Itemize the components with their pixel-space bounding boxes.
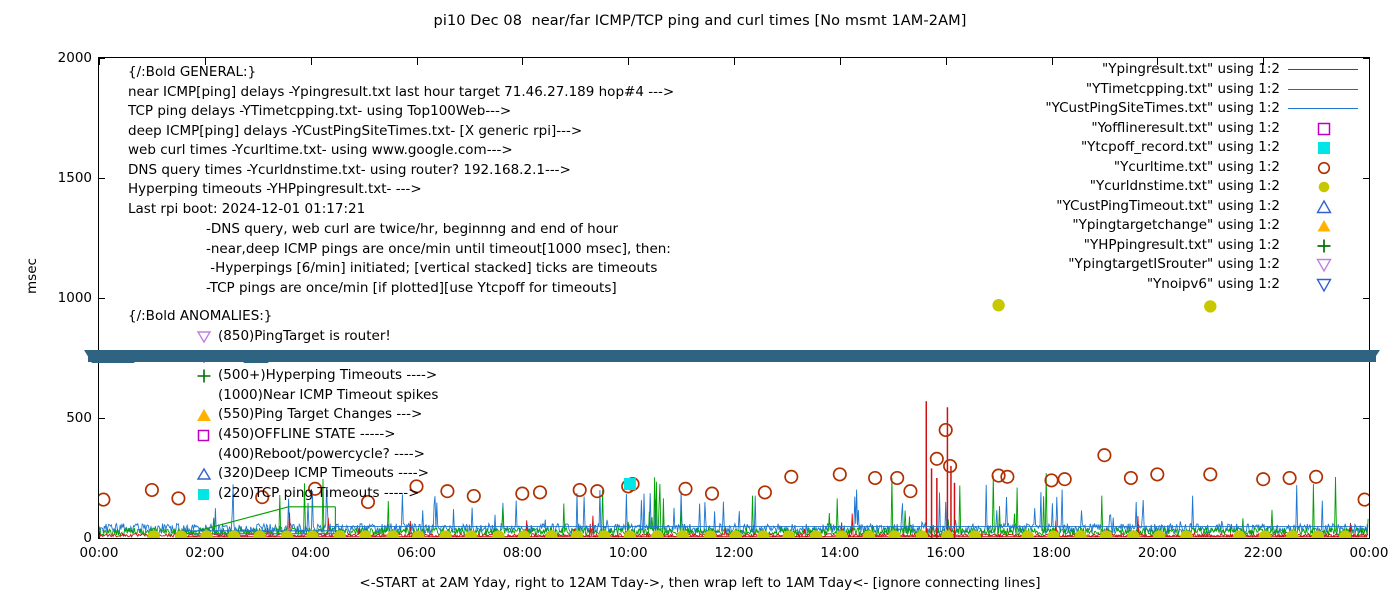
anomaly-row: (320)Deep ICMP Timeouts ----> bbox=[218, 464, 429, 484]
legend-line-swatch bbox=[1288, 89, 1358, 90]
legend-point-swatch bbox=[1316, 218, 1332, 234]
legend-label: "Ycurltime.txt" using 1:2 bbox=[1114, 158, 1280, 178]
curl-time-point bbox=[944, 460, 956, 472]
curl-time-point bbox=[1283, 472, 1295, 484]
curl-time-point bbox=[706, 487, 718, 499]
anomaly-marker-sq-fill-cyan-icon bbox=[196, 486, 212, 502]
y-axis-label: msec bbox=[24, 241, 40, 311]
anomaly-row: (850)PingTarget is router! bbox=[218, 327, 391, 347]
curl-time-point bbox=[591, 485, 603, 497]
chart-title: pi10 Dec 08 near/far ICMP/TCP ping and c… bbox=[0, 13, 1400, 29]
legend-point-swatch bbox=[1316, 238, 1332, 254]
x-tick-label: 04:00 bbox=[291, 545, 330, 561]
legend-row: "Ytcpoff_record.txt" using 1:2 bbox=[980, 138, 1362, 158]
curl-time-point bbox=[1310, 471, 1322, 483]
legend-label: "Yofflineresult.txt" using 1:2 bbox=[1091, 119, 1280, 139]
legend-key-circ-fill-icon bbox=[1284, 177, 1362, 197]
legend-label: "Ypingtargetchange" using 1:2 bbox=[1072, 216, 1280, 236]
legend-label: "Ynoipv6" using 1:2 bbox=[1147, 275, 1280, 295]
curl-time-point bbox=[516, 487, 528, 499]
curl-time-point bbox=[1098, 449, 1110, 461]
legend-point-swatch bbox=[1316, 140, 1332, 156]
x-tick-label: 14:00 bbox=[820, 545, 859, 561]
legend-point-swatch bbox=[1316, 121, 1332, 137]
anomaly-marker-tri-up-fill-orange-icon bbox=[196, 407, 212, 423]
curl-time-point bbox=[931, 453, 943, 465]
y-tick-label: 0 bbox=[83, 530, 92, 546]
overlay-band-notch-tab[interactable] bbox=[236, 348, 286, 366]
legend-line-swatch bbox=[1288, 108, 1358, 109]
legend-row: "Ypingresult.txt" using 1:2 bbox=[980, 60, 1362, 80]
legend-row: "YpingtargetISrouter" using 1:2 bbox=[980, 255, 1362, 275]
legend-label: "Ypingresult.txt" using 1:2 bbox=[1102, 60, 1280, 80]
overlay-band-right-tab[interactable] bbox=[1366, 348, 1388, 366]
curl-time-point bbox=[146, 484, 158, 496]
x-tick-mark bbox=[1369, 57, 1370, 65]
legend-row: "YCustPingSiteTimes.txt" using 1:2 bbox=[980, 99, 1362, 119]
curl-time-point bbox=[99, 493, 110, 505]
legend-point-swatch bbox=[1316, 257, 1332, 273]
y-tick-label: 500 bbox=[66, 410, 92, 426]
curl-time-point bbox=[1151, 468, 1163, 480]
curl-time-point bbox=[891, 472, 903, 484]
x-tick-label: 20:00 bbox=[1138, 545, 1177, 561]
curl-time-point bbox=[834, 468, 846, 480]
x-tick-label: 18:00 bbox=[1032, 545, 1071, 561]
curl-time-point bbox=[1059, 473, 1071, 485]
curl-time-point bbox=[1257, 473, 1269, 485]
x-tick-label: 06:00 bbox=[397, 545, 436, 561]
dns-time-point bbox=[412, 530, 424, 538]
legend-key-line-icon bbox=[1284, 80, 1362, 100]
curl-time-point bbox=[468, 490, 480, 502]
dns-time-point bbox=[992, 299, 1004, 311]
x-axis-caption: <-START at 2AM Yday, right to 12AM Tday-… bbox=[0, 575, 1400, 591]
legend-label: "YpingtargetISrouter" using 1:2 bbox=[1068, 255, 1280, 275]
legend-label: "YHPpingresult.txt" using 1:2 bbox=[1084, 236, 1280, 256]
curl-time-point bbox=[759, 486, 771, 498]
curl-time-point bbox=[1204, 468, 1216, 480]
overlay-band-left-tab[interactable] bbox=[84, 348, 174, 366]
legend-label: "YCustPingTimeout.txt" using 1:2 bbox=[1056, 197, 1280, 217]
x-tick-label: 00:00 bbox=[80, 545, 119, 561]
curl-time-point bbox=[1125, 472, 1137, 484]
general-indented-notes: -DNS query, web curl are twice/hr, begin… bbox=[206, 220, 671, 298]
tcp-timeout-point bbox=[624, 478, 636, 490]
legend-label: "YTimetcpping.txt" using 1:2 bbox=[1086, 80, 1280, 100]
curl-time-point bbox=[1358, 493, 1369, 505]
legend-key-sq-open-icon bbox=[1284, 119, 1362, 139]
x-tick-label: 12:00 bbox=[715, 545, 754, 561]
legend: "Ypingresult.txt" using 1:2"YTimetcpping… bbox=[980, 60, 1362, 294]
x-tick-label: 08:00 bbox=[503, 545, 542, 561]
anomaly-row: (450)OFFLINE STATE -----> bbox=[218, 425, 396, 445]
curl-time-point bbox=[534, 486, 546, 498]
anomaly-marker-tri-down-open-violet-icon bbox=[196, 329, 212, 345]
dns-time-point bbox=[1204, 300, 1216, 312]
anomaly-marker-tri-up-open-blue-icon bbox=[196, 466, 212, 482]
y-tick-label: 1000 bbox=[58, 290, 92, 306]
curl-time-point bbox=[869, 472, 881, 484]
y-tick-label: 2000 bbox=[58, 50, 92, 66]
anomaly-row: (220)TCP ping Timeouts -----> bbox=[218, 484, 420, 504]
curl-time-point bbox=[904, 485, 916, 497]
anomaly-marker-plus-green-icon bbox=[196, 368, 212, 384]
anomaly-marker-sq-open-magenta-icon bbox=[196, 427, 212, 443]
curl-time-point bbox=[1045, 474, 1057, 486]
anomaly-row: (400)Reboot/powercycle? ----> bbox=[218, 445, 425, 465]
dns-time-point bbox=[1074, 530, 1086, 538]
curl-time-point bbox=[172, 492, 184, 504]
curl-time-point bbox=[441, 485, 453, 497]
legend-label: "Ytcpoff_record.txt" using 1:2 bbox=[1081, 138, 1280, 158]
legend-row: "YHPpingresult.txt" using 1:2 bbox=[980, 236, 1362, 256]
dns-time-point bbox=[677, 530, 689, 538]
anomaly-row: (1000)Near ICMP Timeout spikes bbox=[218, 386, 438, 406]
legend-row: "Ycurltime.txt" using 1:2 bbox=[980, 158, 1362, 178]
x-tick-label: 10:00 bbox=[609, 545, 648, 561]
curl-time-point bbox=[574, 484, 586, 496]
dns-time-point bbox=[1286, 530, 1298, 538]
legend-point-swatch bbox=[1316, 199, 1332, 215]
legend-key-sq-fill-icon bbox=[1284, 138, 1362, 158]
legend-row: "Ycurldnstime.txt" using 1:2 bbox=[980, 177, 1362, 197]
general-annotation-block: {/:Bold GENERAL:} near ICMP[ping] delays… bbox=[128, 63, 674, 219]
curl-time-point bbox=[1001, 471, 1013, 483]
legend-key-circ-open-icon bbox=[1284, 158, 1362, 178]
x-tick-label: 02:00 bbox=[185, 545, 224, 561]
x-tick-mark bbox=[1369, 531, 1370, 539]
legend-row: "Ypingtargetchange" using 1:2 bbox=[980, 216, 1362, 236]
legend-point-swatch bbox=[1316, 277, 1332, 293]
curl-time-point bbox=[785, 471, 797, 483]
anomaly-row: (500+)Hyperping Timeouts ----> bbox=[218, 366, 437, 386]
anomaly-row: (550)Ping Target Changes ---> bbox=[218, 405, 422, 425]
x-tick-label: 16:00 bbox=[926, 545, 965, 561]
x-tick-label: 22:00 bbox=[1244, 545, 1283, 561]
legend-row: "Yofflineresult.txt" using 1:2 bbox=[980, 119, 1362, 139]
legend-key-tri-up-open-icon bbox=[1284, 197, 1362, 217]
x-tick-label: 00:00 bbox=[1350, 545, 1389, 561]
legend-row: "YCustPingTimeout.txt" using 1:2 bbox=[980, 197, 1362, 217]
y-tick-label: 1500 bbox=[58, 170, 92, 186]
legend-key-tri-up-fill-icon bbox=[1284, 216, 1362, 236]
legend-row: "Ynoipv6" using 1:2 bbox=[980, 275, 1362, 295]
legend-key-line-icon bbox=[1284, 99, 1362, 119]
anomalies-heading: {/:Bold ANOMALIES:} bbox=[128, 307, 272, 327]
legend-row: "YTimetcpping.txt" using 1:2 bbox=[980, 80, 1362, 100]
legend-key-tri-dn-open-icon bbox=[1284, 255, 1362, 275]
legend-point-swatch bbox=[1316, 179, 1332, 195]
dns-time-point bbox=[1259, 530, 1271, 538]
legend-point-swatch bbox=[1316, 160, 1332, 176]
legend-key-line-icon bbox=[1284, 60, 1362, 80]
legend-label: "YCustPingSiteTimes.txt" using 1:2 bbox=[1045, 99, 1280, 119]
curl-time-point bbox=[940, 424, 952, 436]
legend-key-plus-icon bbox=[1284, 236, 1362, 256]
legend-key-tri-dn-open-icon bbox=[1284, 275, 1362, 295]
curl-time-point bbox=[679, 483, 691, 495]
legend-label: "Ycurldnstime.txt" using 1:2 bbox=[1090, 177, 1280, 197]
legend-line-swatch bbox=[1288, 69, 1358, 70]
